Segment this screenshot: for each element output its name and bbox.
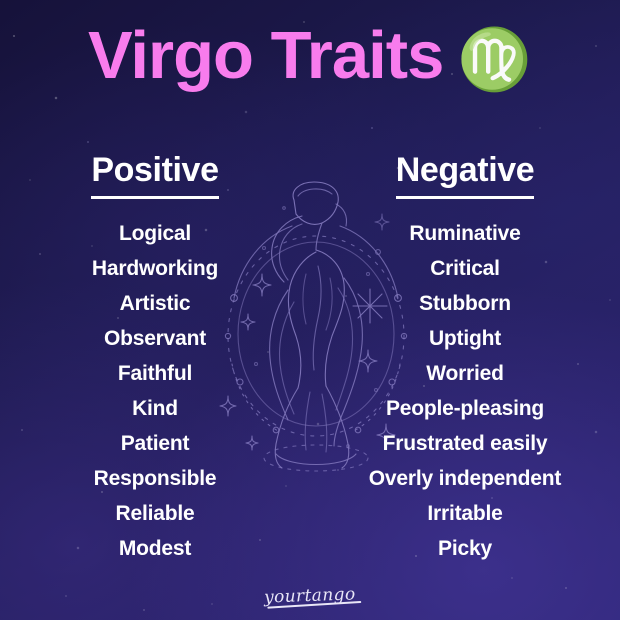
list-item: Kind — [0, 391, 310, 426]
list-item: Logical — [0, 216, 310, 251]
traits-columns: Positive Logical Hardworking Artistic Ob… — [0, 152, 620, 566]
list-item: Modest — [0, 531, 310, 566]
list-item: Irritable — [310, 496, 620, 531]
list-item: Hardworking — [0, 251, 310, 286]
negative-traits-list: Ruminative Critical Stubborn Uptight Wor… — [310, 216, 620, 566]
positive-heading: Positive — [91, 152, 218, 199]
poster-title: Virgo Traits ♍ — [0, 22, 620, 89]
list-item: Critical — [310, 251, 620, 286]
list-item: Uptight — [310, 321, 620, 356]
list-item: Picky — [310, 531, 620, 566]
positive-traits-column: Positive Logical Hardworking Artistic Ob… — [0, 152, 310, 566]
list-item: Frustrated easily — [310, 426, 620, 461]
list-item: Faithful — [0, 356, 310, 391]
list-item: Stubborn — [310, 286, 620, 321]
positive-traits-list: Logical Hardworking Artistic Observant F… — [0, 216, 310, 566]
list-item: People-pleasing — [310, 391, 620, 426]
list-item: Patient — [0, 426, 310, 461]
list-item: Observant — [0, 321, 310, 356]
negative-heading: Negative — [396, 152, 535, 199]
page-title: Virgo Traits — [88, 22, 443, 89]
list-item: Worried — [310, 356, 620, 391]
negative-traits-column: Negative Ruminative Critical Stubborn Up… — [310, 152, 620, 566]
yourtango-logo: yourtango — [261, 584, 359, 607]
footer: yourtango — [0, 586, 620, 606]
list-item: Reliable — [0, 496, 310, 531]
virgo-traits-poster: Virgo Traits ♍ — [0, 0, 620, 620]
list-item: Overly independent — [310, 461, 620, 496]
virgo-symbol-icon: ♍ — [457, 30, 532, 90]
list-item: Ruminative — [310, 216, 620, 251]
list-item: Artistic — [0, 286, 310, 321]
list-item: Responsible — [0, 461, 310, 496]
